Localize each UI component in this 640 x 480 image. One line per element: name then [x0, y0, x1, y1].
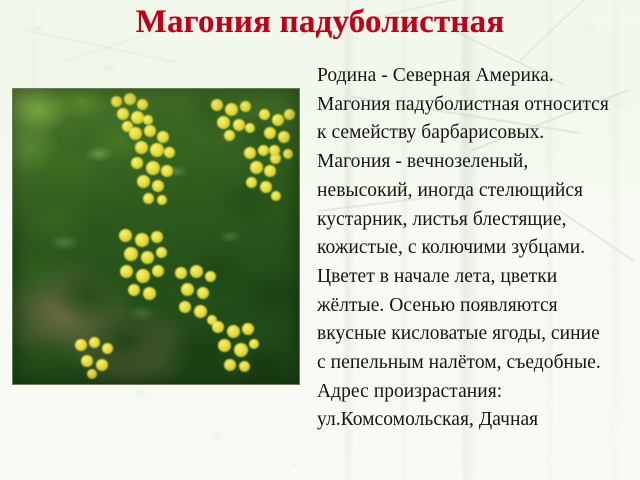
slide-title: Магония падуболистная — [0, 1, 640, 43]
body-line: вкусные кисловатые ягоды, синие — [317, 320, 633, 349]
body-line: Родина - Северная Америка. — [317, 62, 633, 91]
body-line: кустарник, листья блестящие, — [317, 206, 633, 235]
photo-vignette — [13, 89, 299, 384]
body-line: Магония падуболистная относится — [317, 91, 633, 120]
body-line: невысокий, иногда стелющийся — [317, 177, 633, 206]
body-line: с пепельным налётом, съедобные. — [317, 349, 633, 378]
body-line: ул.Комсомольская, Дачная — [317, 406, 633, 435]
body-line: кожистые, с колючими зубцами. — [317, 234, 633, 263]
body-line: Адрес произрастания: — [317, 378, 633, 407]
slide-body-text: Родина - Северная Америка. Магония падуб… — [317, 62, 633, 435]
mahonia-shrub-photo — [12, 88, 300, 385]
body-line: жёлтые. Осенью появляются — [317, 292, 633, 321]
body-line: Магония - вечнозеленый, — [317, 148, 633, 177]
body-line: к семейству барбарисовых. — [317, 119, 633, 148]
presentation-slide: Магония падуболистная — [0, 0, 640, 480]
body-line: Цветет в начале лета, цветки — [317, 263, 633, 292]
